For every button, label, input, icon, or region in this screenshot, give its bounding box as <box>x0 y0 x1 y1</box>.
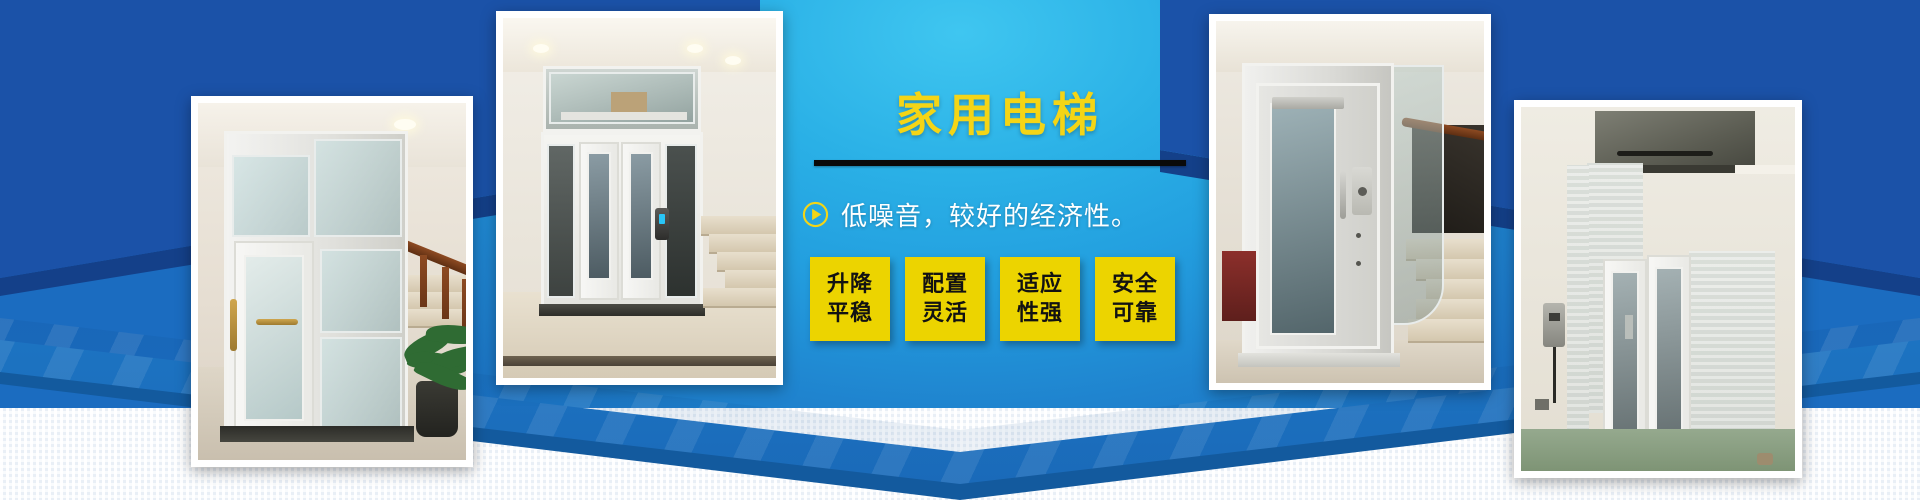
page-title: 家用电梯 <box>800 92 1200 138</box>
feature-tag[interactable]: 升降 平稳 <box>810 257 890 341</box>
feature-tag-line2: 可靠 <box>1112 299 1158 328</box>
photo-white-home-elevator <box>496 11 783 385</box>
feature-tag-line2: 平稳 <box>827 299 873 328</box>
feature-tag-line2: 性强 <box>1017 299 1063 328</box>
photo-stainless-steel-elevator <box>1209 14 1491 390</box>
feature-tag[interactable]: 配置 灵活 <box>905 257 985 341</box>
circled-play-arrow-icon <box>802 201 829 228</box>
subtitle-row: 低噪音，较好的经济性。 <box>802 196 1200 233</box>
title-divider <box>814 160 1186 166</box>
feature-tag-list: 升降 平稳 配置 灵活 适应 性强 安全 可靠 <box>810 257 1200 341</box>
banner-copy-block: 家用电梯 低噪音，较好的经济性。 升降 平稳 配置 灵活 适应 性强 <box>800 92 1200 341</box>
feature-tag-line1: 安全 <box>1112 270 1158 299</box>
feature-tag[interactable]: 适应 性强 <box>1000 257 1080 341</box>
subtitle-text: 低噪音，较好的经济性。 <box>841 196 1138 233</box>
feature-tag-line1: 适应 <box>1017 270 1063 299</box>
feature-tag-line1: 配置 <box>922 270 968 299</box>
feature-tag-line1: 升降 <box>827 270 873 299</box>
photo-villa-glass-elevator <box>191 96 473 467</box>
home-elevator-promo-banner: 家用电梯 低噪音，较好的经济性。 升降 平稳 配置 灵活 适应 性强 <box>0 0 1920 500</box>
feature-tag-line2: 灵活 <box>922 299 968 328</box>
photo-elevator-under-installation <box>1514 100 1802 478</box>
feature-tag[interactable]: 安全 可靠 <box>1095 257 1175 341</box>
